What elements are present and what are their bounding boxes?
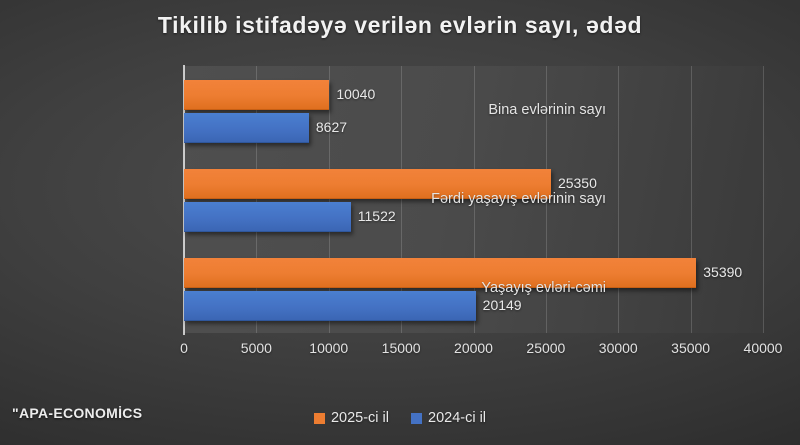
legend-label: 2025-ci il (331, 410, 389, 426)
legend-swatch-icon (314, 413, 325, 424)
tick-label: 20000 (454, 340, 493, 356)
bar-series-2024[interactable] (184, 202, 351, 232)
gridline (618, 66, 619, 333)
legend-swatch-icon (411, 413, 422, 424)
bar-value-label: 8627 (309, 113, 347, 142)
tick-label: 5000 (241, 340, 272, 356)
tick-label: 25000 (526, 340, 565, 356)
tick-label: 40000 (744, 340, 783, 356)
tick-label: 0 (180, 340, 188, 356)
watermark-label: "APA-ECONOMİCS (12, 405, 142, 421)
bar-series-2025[interactable] (184, 80, 329, 110)
bar-series-2024[interactable] (184, 113, 309, 143)
chart-slide: Tikilib istifadəyə verilən evlərin sayı,… (0, 0, 800, 445)
tick-label: 35000 (671, 340, 710, 356)
tick-label: 10000 (309, 340, 348, 356)
tick-label: 15000 (382, 340, 421, 356)
category-label: Bina evlərinin sayı (356, 102, 606, 118)
chart-title: Tikilib istifadəyə verilən evlərin sayı,… (0, 12, 800, 39)
legend-label: 2024-ci il (428, 410, 486, 426)
gridline (763, 66, 764, 333)
category-label: Yaşayış evləri-cəmi (356, 280, 606, 296)
legend-entry[interactable]: 2025-ci il (314, 410, 389, 426)
legend-entry[interactable]: 2024-ci il (411, 410, 486, 426)
category-label: Fərdi yaşayış evlərinin sayı (356, 191, 606, 207)
bar-value-label: 35390 (696, 258, 742, 287)
tick-label: 30000 (599, 340, 638, 356)
gridline (691, 66, 692, 333)
